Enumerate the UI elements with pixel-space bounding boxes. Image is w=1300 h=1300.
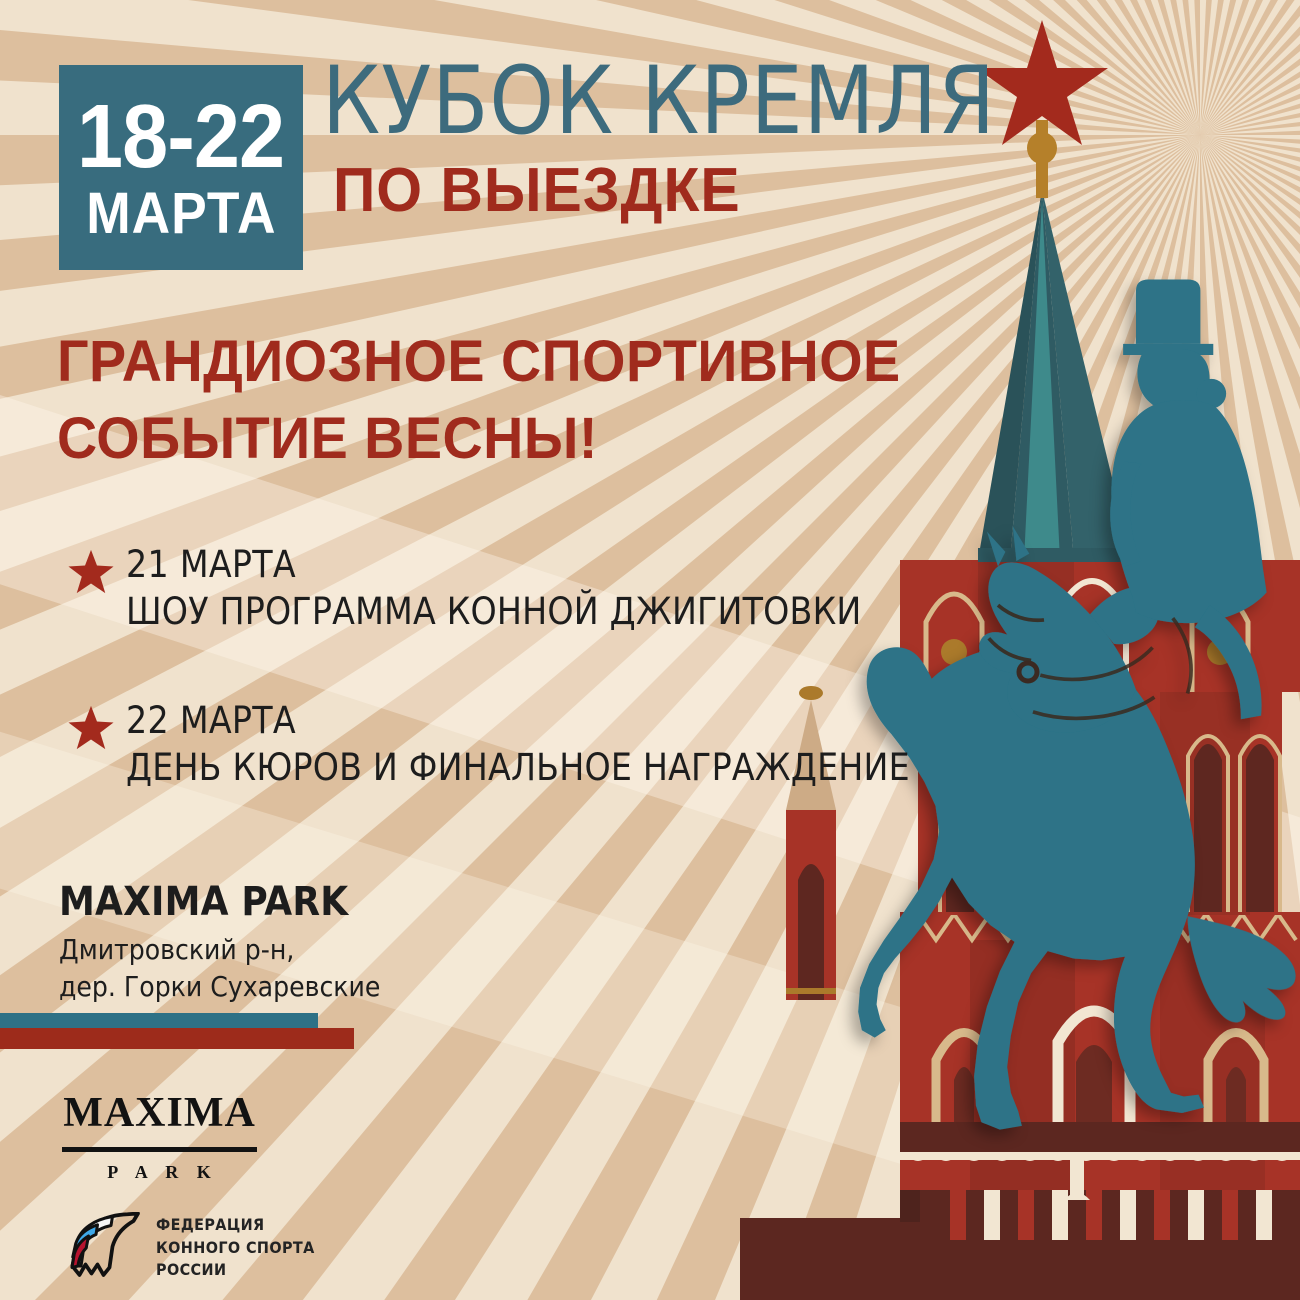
maxima-logo-word: MAXIMA [62, 1092, 257, 1134]
headline: ГРАНДИОЗНОЕ СПОРТИВНОЕ СОБЫТИЕ ВЕСНЫ! [57, 324, 901, 477]
venue-address: Дмитровский р-н, дер. Горки Сухаревские [59, 932, 380, 1006]
federation-logo: ФЕДЕРАЦИЯ КОННОГО СПОРТА РОССИИ [66, 1212, 315, 1284]
maxima-logo-rule [62, 1147, 257, 1152]
event-list: 21 МАРТА ШОУ ПРОГРАММА КОННОЙ ДЖИГИТОВКИ… [60, 545, 960, 856]
page-title: КУБОК КРЕМЛЯ [322, 55, 996, 149]
maxima-logo-sub: P A R K [62, 1163, 257, 1181]
maxima-park-logo: MAXIMA P A R K [62, 1092, 257, 1181]
list-item: 21 МАРТА ШОУ ПРОГРАММА КОННОЙ ДЖИГИТОВКИ [60, 545, 960, 639]
venue-name: MAXIMA PARK [59, 880, 380, 924]
venue-address-line-1: Дмитровский р-н, [59, 932, 380, 969]
federation-line-1: ФЕДЕРАЦИЯ [156, 1214, 315, 1237]
date-month: МАРТА [86, 185, 276, 243]
list-item: 22 МАРТА ДЕНЬ КЮРОВ И ФИНАЛЬНОЕ НАГРАЖДЕ… [60, 701, 960, 795]
headline-line-2: СОБЫТИЕ ВЕСНЫ! [57, 401, 901, 478]
red-star-icon [68, 705, 114, 751]
headline-line-1: ГРАНДИОЗНОЕ СПОРТИВНОЕ [57, 324, 901, 401]
event-date: 22 МАРТА [126, 701, 960, 741]
event-description: ДЕНЬ КЮРОВ И ФИНАЛЬНОЕ НАГРАЖДЕНИЕ [126, 741, 960, 795]
event-date: 21 МАРТА [126, 545, 960, 585]
federation-line-3: РОССИИ [156, 1259, 315, 1282]
page-subtitle: ПО ВЫЕЗДКЕ [333, 160, 741, 222]
poster-canvas: 18-22 МАРТА КУБОК КРЕМЛЯ ПО ВЫЕЗДКЕ ГРАН… [0, 0, 1300, 1300]
red-divider-bar [0, 1028, 354, 1049]
red-star-icon [68, 549, 114, 595]
venue-block: MAXIMA PARK Дмитровский р-н, дер. Горки … [59, 880, 380, 1006]
event-description: ШОУ ПРОГРАММА КОННОЙ ДЖИГИТОВКИ [126, 585, 960, 639]
venue-address-line-2: дер. Горки Сухаревские [59, 969, 380, 1006]
horse-head-tricolor-icon [66, 1212, 144, 1284]
teal-divider-bar [0, 1013, 318, 1028]
date-range: 18-22 [77, 96, 284, 179]
federation-logo-text: ФЕДЕРАЦИЯ КОННОГО СПОРТА РОССИИ [156, 1214, 315, 1282]
federation-line-2: КОННОГО СПОРТА [156, 1237, 315, 1260]
date-badge: 18-22 МАРТА [59, 65, 303, 270]
